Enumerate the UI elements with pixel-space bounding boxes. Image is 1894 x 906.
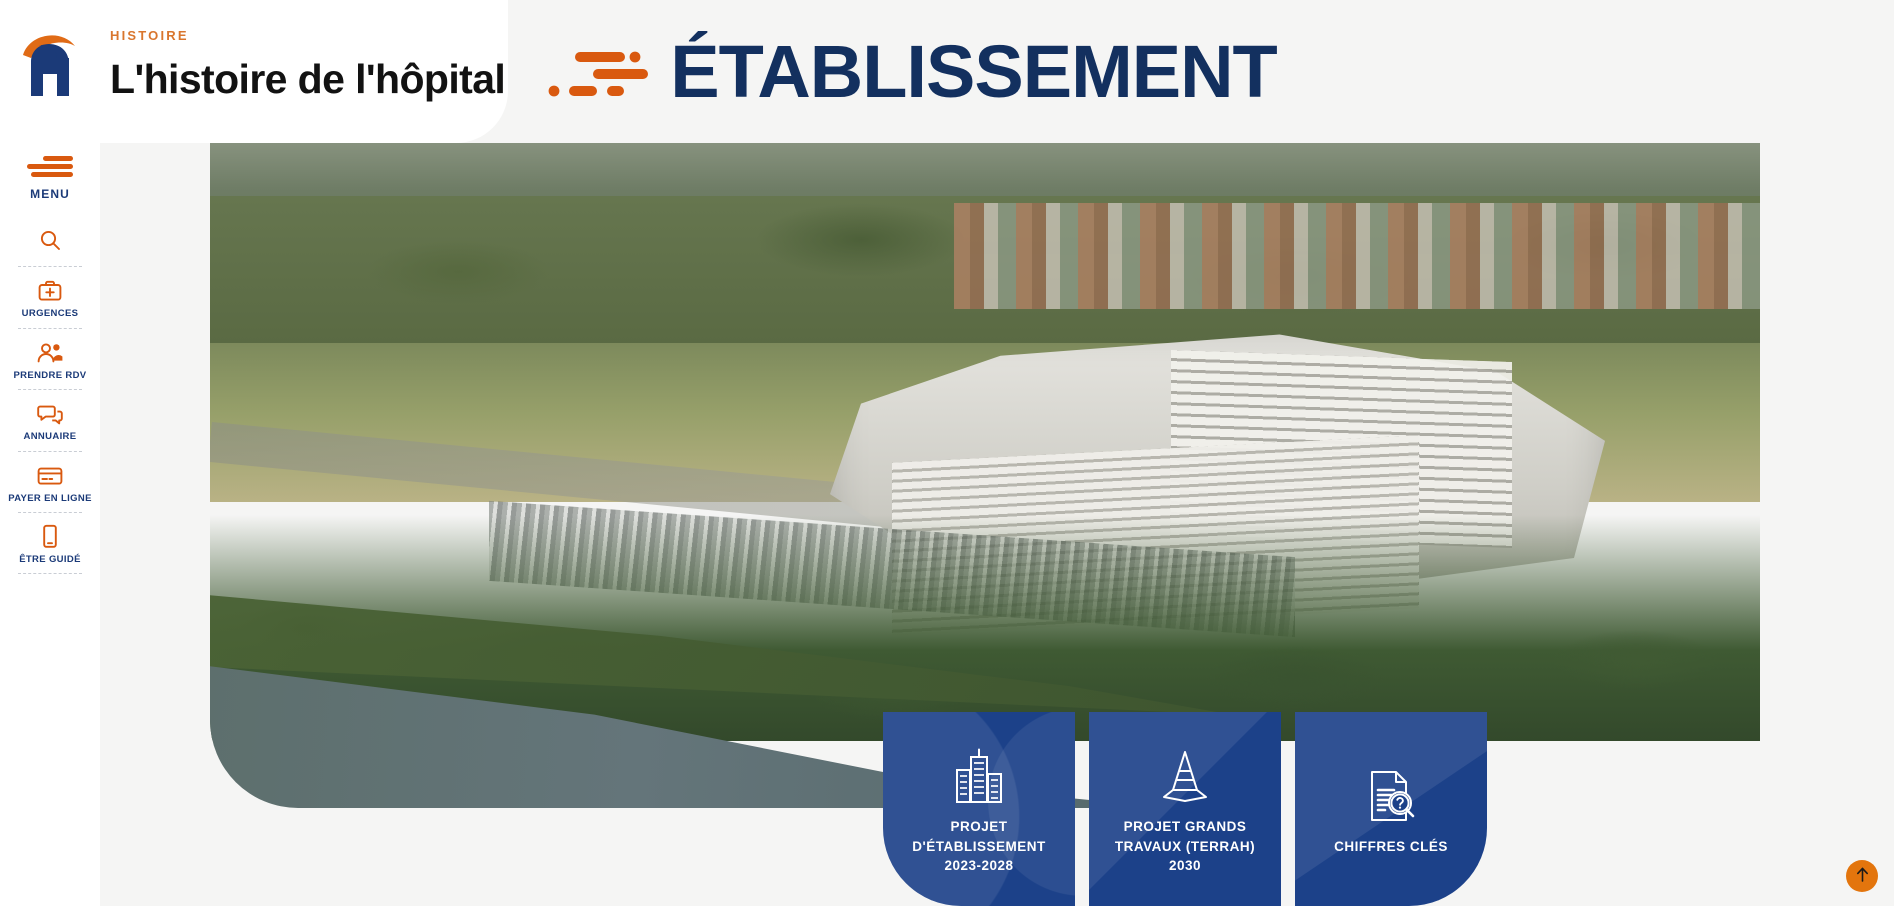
sidebar-item-etre-guide[interactable]: ÊTRE GUIDÉ bbox=[0, 513, 100, 574]
two-people-icon bbox=[36, 338, 64, 368]
sidebar-nav: MENU URGENCES bbox=[0, 152, 100, 574]
search-icon bbox=[38, 225, 62, 255]
hospital-aerial-photo bbox=[210, 143, 1760, 808]
sidebar-item-prendre-rdv[interactable]: PRENDRE RDV bbox=[0, 329, 100, 390]
speed-lines-icon bbox=[547, 44, 652, 99]
buildings-icon bbox=[953, 742, 1005, 804]
hero-image bbox=[210, 143, 1760, 808]
credit-card-icon bbox=[37, 461, 63, 491]
hopital-logo[interactable] bbox=[17, 22, 83, 100]
hero-heading: L'histoire de l'hôpital bbox=[110, 57, 508, 102]
traffic-cone-icon bbox=[1156, 742, 1214, 804]
smartphone-icon bbox=[41, 522, 59, 552]
sidebar-item-label: ANNUAIRE bbox=[24, 432, 77, 442]
sidebar-item-label: PRENDRE RDV bbox=[14, 371, 87, 381]
sidebar-item-label: ÊTRE GUIDÉ bbox=[19, 555, 81, 565]
quick-links-cards: PROJET D'ÉTABLISSEMENT 2023-2028 PROJET … bbox=[883, 712, 1487, 906]
document-search-icon bbox=[1363, 762, 1419, 824]
sidebar-item-label: URGENCES bbox=[22, 309, 79, 319]
sidebar-item-payer-en-ligne[interactable]: PAYER EN LIGNE bbox=[0, 452, 100, 513]
hamburger-icon bbox=[27, 152, 73, 182]
arrow-up-icon bbox=[1856, 867, 1869, 885]
left-sidebar: MENU URGENCES bbox=[0, 0, 100, 906]
sidebar-item-annuaire[interactable]: ANNUAIRE bbox=[0, 390, 100, 451]
card-label: PROJET D'ÉTABLISSEMENT 2023-2028 bbox=[895, 817, 1063, 876]
card-label: CHIFFRES CLÉS bbox=[1334, 837, 1448, 857]
card-projet-etablissement[interactable]: PROJET D'ÉTABLISSEMENT 2023-2028 bbox=[883, 712, 1075, 906]
sidebar-item-label: PAYER EN LIGNE bbox=[8, 494, 92, 504]
sidebar-item-menu[interactable]: MENU bbox=[0, 152, 100, 210]
sidebar-item-urgences[interactable]: URGENCES bbox=[0, 267, 100, 328]
page-title: ÉTABLISSEMENT bbox=[670, 35, 1276, 109]
speech-bubbles-icon bbox=[37, 399, 64, 429]
card-label: PROJET GRANDS TRAVAUX (TERRAH) 2030 bbox=[1101, 817, 1269, 876]
card-decoration bbox=[883, 712, 1075, 906]
sidebar-item-search[interactable] bbox=[0, 216, 100, 267]
card-chiffres-cles[interactable]: CHIFFRES CLÉS bbox=[1295, 712, 1487, 906]
hopital-logo-icon bbox=[17, 22, 83, 100]
medical-bag-icon bbox=[37, 276, 63, 306]
card-projet-grands-travaux[interactable]: PROJET GRANDS TRAVAUX (TERRAH) 2030 bbox=[1089, 712, 1281, 906]
sidebar-item-label: MENU bbox=[30, 188, 70, 201]
card-decoration bbox=[1089, 712, 1281, 906]
scroll-to-top-button[interactable] bbox=[1846, 860, 1878, 892]
hero-eyebrow: HISTOIRE bbox=[110, 28, 508, 43]
